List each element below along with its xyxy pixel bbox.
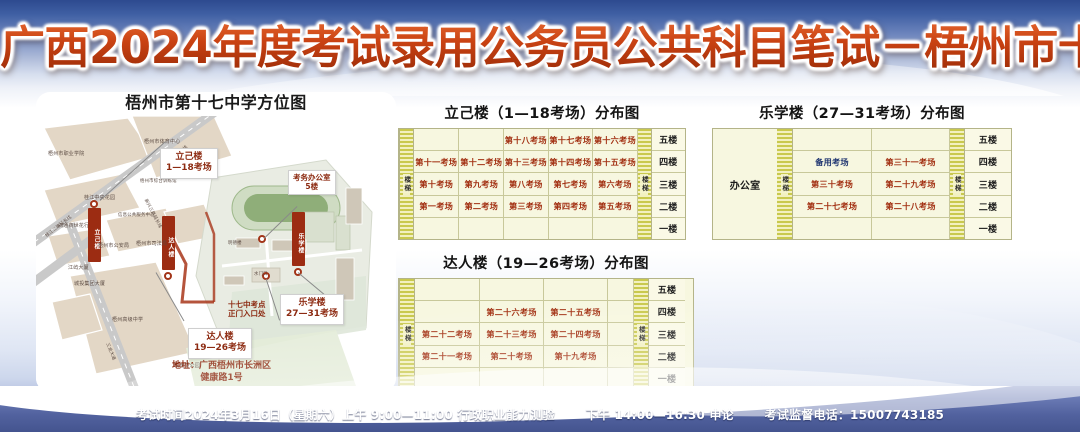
cell-liji-3-1 [504,217,548,239]
grid-col-daren-3: 第二十五考场 第二十四考场 第十九考场 [543,279,607,389]
cell-liji-1-1 [414,217,458,239]
stair-right-liji: 楼梯 [637,129,652,239]
stair-right-daren-label: 楼梯 [637,324,645,345]
cell-lexue-2-5 [872,129,949,150]
building-lexue: 乐学楼 [292,212,305,266]
cell-daren-1-2: 第二十一考场 [415,345,479,367]
table-block-liji: 立己楼（1—18考场）分布图 楼梯 第十一考场 第十考场 第一考场 第十二考场 … [398,104,686,240]
cell-lexue-1-2: 第二十七考场 [793,195,871,217]
cell-liji-3-5: 第十八考场 [504,129,548,150]
floor-lexue-2: 二楼 [965,195,1011,217]
office-col-lexue: 办公室 [713,129,777,239]
grid-col-liji-4: 第十七考场 第十四考场 第七考场 第四考场 [548,129,593,239]
cell-lexue-2-3: 第二十九考场 [872,172,949,194]
floor-liji-3: 三楼 [652,172,685,194]
floor-liji-5: 五楼 [652,129,685,150]
cell-liji-4-3: 第七考场 [549,172,593,194]
map-label-0: 梧州市职业学院 [48,150,84,157]
grid-col-daren-2: 第二十六考场 第二十三考场 第二十考场 [479,279,543,389]
stair-right-daren: 楼梯 [633,279,649,389]
location-map-panel: 梧州市第十七中学方位图 [36,92,396,392]
cell-liji-1-2: 第一考场 [414,195,458,217]
cell-lexue-2-1 [872,217,949,239]
cell-daren-3-4: 第二十五考场 [544,300,607,322]
floor-lexue-1: 一楼 [965,217,1011,239]
cell-liji-3-3: 第八考场 [504,172,548,194]
cell-daren-2-4: 第二十六考场 [480,300,543,322]
grid-col-lexue-2: 第三十一考场 第二十九考场 第二十八考场 [871,129,949,239]
table-block-daren: 达人楼（19—26考场）分布图 楼梯 第二十二考场 第二十一考场 第二十六考场 … [398,254,694,390]
cell-daren-2-5 [480,279,543,300]
grid-col-daren-1: 第二十二考场 第二十一考场 [415,279,479,389]
callout-liji-line2: 1—18考场 [166,163,212,174]
cell-daren-1-4 [415,300,479,322]
cell-daren-4-4 [608,300,633,322]
footer-info: 考试时间2024年3月16日（星期六）上午 9:00—11:00 行政职业能力测… [0,406,1080,423]
callout-office-line2: 5楼 [293,182,331,191]
floor-lexue-3: 三楼 [965,172,1011,194]
callout-liji-line1: 立己楼 [166,152,212,163]
cell-liji-4-4: 第十四考场 [549,150,593,172]
cell-daren-3-2: 第十九考场 [544,345,607,367]
map-label-12: 明德楼 [228,240,242,246]
callout-office-line1: 考务办公室 [293,173,331,182]
stair-left-lexue-label: 楼梯 [781,174,789,195]
poster-root: 广西2024年度考试录用公务员公共科目笔试－梧州市十七中考点 梧州市第十七中学方… [0,0,1080,432]
floorplan-grid-daren: 楼梯 第二十二考场 第二十一考场 第二十六考场 第二十三考场 第二十考场 第二十… [398,278,694,390]
map-label-6: 江屿大厦 [68,264,89,271]
map-label-7: 城投集团大厦 [74,280,105,287]
cell-liji-5-5: 第十六考场 [593,129,637,150]
table-title-lexue: 乐学楼（27—31考场）分布图 [712,104,1012,124]
cell-liji-3-2: 第三考场 [504,195,548,217]
stair-left-liji-label: 楼梯 [403,174,411,195]
map-address: 地址：广西梧州市长洲区 健康路1号 [172,360,271,384]
cell-liji-2-4: 第十二考场 [459,150,503,172]
cell-lexue-2-4: 第三十一考场 [872,150,949,172]
grid-col-daren-4 [607,279,633,389]
callout-gate-line2: 正门入口处 [228,309,266,318]
footer-afternoon: 下午 14:00—16:30 申论 [586,408,734,422]
cell-daren-3-5 [544,279,607,300]
callout-lexue-line2: 27—31考场 [286,309,338,320]
office-label-lexue: 办公室 [713,129,777,239]
map-label-10: 梧州市综合训练馆 [140,178,177,184]
callout-daren-line2: 19—26考场 [194,343,246,354]
map-label-13: 水门口 [254,271,268,277]
cell-lexue-1-1 [793,217,871,239]
cell-liji-2-2: 第二考场 [459,195,503,217]
stair-left-lexue: 楼梯 [777,129,793,239]
building-liji: 立己楼 [88,208,101,262]
cell-daren-1-3: 第二十二考场 [415,322,479,344]
cell-liji-2-5 [459,129,503,150]
cell-liji-4-1 [549,217,593,239]
table-title-liji: 立己楼（1—18考场）分布图 [398,104,686,124]
stair-right-lexue-label: 楼梯 [953,174,961,195]
floor-daren-2: 二楼 [649,345,685,367]
stair-left-daren: 楼梯 [399,279,415,389]
cell-liji-1-4: 第十一考场 [414,150,458,172]
cell-daren-4-2 [608,345,633,367]
callout-daren: 达人楼 19—26考场 [188,328,252,359]
floor-col-lexue: 五楼 四楼 三楼 二楼 一楼 [965,129,1011,239]
grid-col-lexue-1: 备用考场 第三十考场 第二十七考场 [793,129,871,239]
cell-daren-4-3 [608,322,633,344]
floor-liji-1: 一楼 [652,217,685,239]
cell-liji-1-3: 第十考场 [414,172,458,194]
stair-right-lexue: 楼梯 [949,129,965,239]
cell-daren-2-3: 第二十三考场 [480,322,543,344]
cell-liji-5-2: 第五考场 [593,195,637,217]
table-title-daren: 达人楼（19—26考场）分布图 [398,254,694,274]
map-label-5: 梧州市司法局 [136,240,167,247]
cell-daren-3-3: 第二十四考场 [544,322,607,344]
page-title: 广西2024年度考试录用公务员公共科目笔试－梧州市十七中考点 [0,22,1080,74]
map-title: 梧州市第十七中学方位图 [36,92,396,114]
grid-col-liji-5: 第十六考场 第十五考场 第六考场 第五考场 [592,129,637,239]
floor-daren-4: 四楼 [649,300,685,322]
footer-hotline: 考试监督电话：15007743185 [765,408,944,422]
cell-daren-1-5 [415,279,479,300]
cell-liji-5-3: 第六考场 [593,172,637,194]
floor-daren-5: 五楼 [649,279,685,300]
floorplan-grid-lexue: 办公室 楼梯 备用考场 第三十考场 第二十七考场 第三十一考场 第二十九考场 第… [712,128,1012,240]
cell-liji-5-1 [593,217,637,239]
callout-office: 考务办公室 5楼 [288,170,336,195]
map-pin-liji [90,200,98,208]
map-address-line1: 地址：广西梧州市长洲区 [172,360,271,372]
floor-daren-3: 三楼 [649,322,685,344]
floor-lexue-4: 四楼 [965,150,1011,172]
cell-lexue-1-5 [793,129,871,150]
footer-exam-time: 考试时间2024年3月16日（星期六）上午 9:00—11:00 行政职业能力测… [136,408,555,422]
cell-liji-4-2: 第四考场 [549,195,593,217]
callout-liji: 立己楼 1—18考场 [160,148,218,179]
grid-col-liji-1: 第十一考场 第十考场 第一考场 [414,129,458,239]
callout-lexue: 乐学楼 27—31考场 [280,294,344,325]
callout-gate: 十七中考点 正门入口处 [224,298,270,321]
cell-lexue-1-4: 备用考场 [793,150,871,172]
map-pin-daren [164,272,172,280]
map-canvas: 立己楼 达人楼 乐学楼 梧州市职业学院 梧州市体育中心 桂江中央花园 鸿通商世花… [36,116,396,392]
cell-liji-1-5 [414,129,458,150]
map-label-4: 梧州市公安局 [98,242,129,249]
table-block-lexue: 乐学楼（27—31考场）分布图 办公室 楼梯 备用考场 第三十考场 第二十七考场… [712,104,1012,240]
cell-daren-2-2: 第二十考场 [480,345,543,367]
cell-liji-3-4: 第十三考场 [504,150,548,172]
cell-daren-4-5 [608,279,633,300]
map-label-8: 梧州高级中学 [112,316,143,323]
cell-liji-2-1 [459,217,503,239]
stair-left-daren-label: 楼梯 [403,324,411,345]
cell-lexue-2-2: 第二十八考场 [872,195,949,217]
grid-col-liji-2: 第十二考场 第九考场 第二考场 [458,129,503,239]
stair-left-liji: 楼梯 [399,129,414,239]
cell-lexue-1-3: 第三十考场 [793,172,871,194]
floor-col-liji: 五楼 四楼 三楼 二楼 一楼 [652,129,685,239]
stair-right-liji-label: 楼梯 [640,174,648,195]
grid-col-liji-3: 第十八考场 第十三考场 第八考场 第三考场 [503,129,548,239]
cell-liji-5-4: 第十五考场 [593,150,637,172]
callout-daren-line1: 达人楼 [194,332,246,343]
callout-gate-line1: 十七中考点 [228,300,266,309]
floor-liji-4: 四楼 [652,150,685,172]
floor-liji-2: 二楼 [652,195,685,217]
map-address-line2: 健康路1号 [172,372,271,384]
cell-liji-4-5: 第十七考场 [549,129,593,150]
floor-col-daren: 五楼 四楼 三楼 二楼 一楼 [649,279,685,389]
floor-lexue-5: 五楼 [965,129,1011,150]
callout-lexue-line1: 乐学楼 [286,298,338,309]
cell-liji-2-3: 第九考场 [459,172,503,194]
floorplan-grid-liji: 楼梯 第十一考场 第十考场 第一考场 第十二考场 第九考场 第二考场 第十八考场… [398,128,686,240]
